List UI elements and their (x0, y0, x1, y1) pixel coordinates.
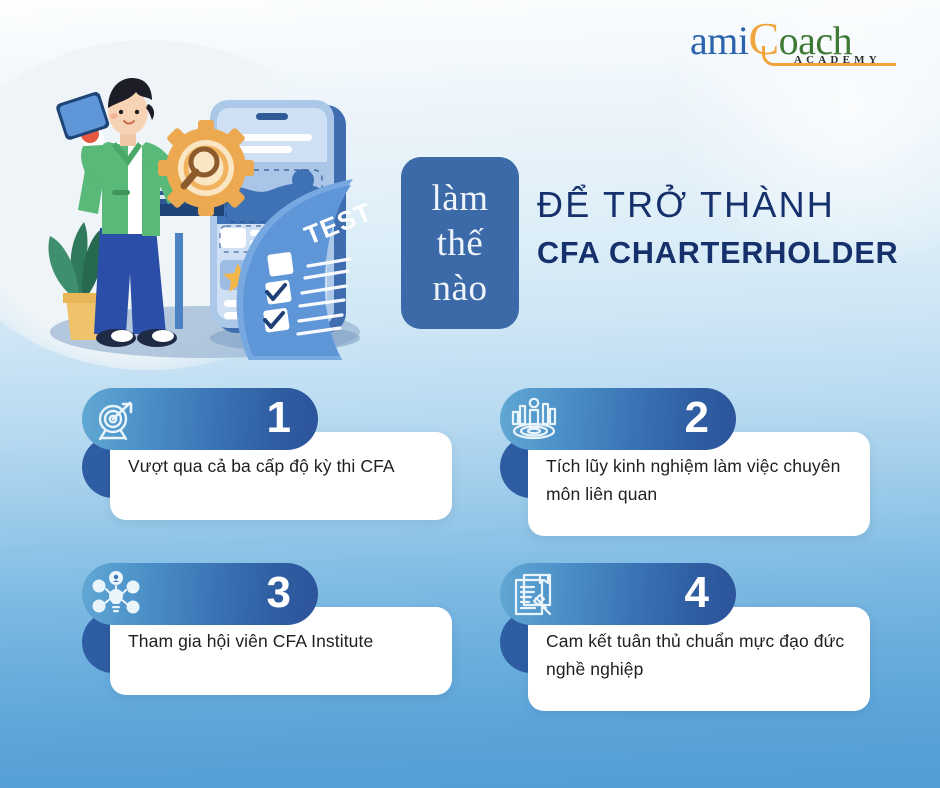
infographic-poster: amiCoach ACADEMY (0, 0, 940, 788)
badge-line-2: thế (437, 221, 484, 266)
card-header: 2 (500, 388, 736, 450)
hero-illustration: TEST (20, 50, 390, 360)
card-number: 3 (267, 571, 290, 618)
brand-logo[interactable]: amiCoach ACADEMY (690, 16, 910, 74)
step-card-2[interactable]: 2 Tích lũy kinh nghiệm làm việc chuyên m… (500, 388, 870, 536)
badge-line-3: nào (433, 266, 488, 311)
headline-line-1: ĐỂ TRỞ THÀNH (537, 182, 937, 228)
businessperson-chart-icon (510, 395, 558, 443)
logo-text-ami: ami (690, 18, 748, 63)
badge-line-1: làm (432, 176, 489, 221)
gear-magnifier-icon (158, 120, 254, 216)
card-text: Cam kết tuân thủ chuẩn mực đạo đức nghề … (546, 627, 852, 683)
target-arrow-icon (92, 395, 140, 443)
idea-network-icon (92, 570, 140, 618)
document-gavel-icon (510, 570, 558, 618)
headline-line-2: CFA CHARTERHOLDER (537, 232, 937, 274)
step-card-1[interactable]: 1 Vượt qua cả ba cấp độ kỳ thi CFA (82, 388, 452, 520)
card-number: 1 (267, 396, 290, 443)
step-card-4[interactable]: 4 Cam kết tuân thủ chuẩn mực đạo đức ngh… (500, 563, 870, 711)
card-header: 1 (82, 388, 318, 450)
logo-text-c: C (748, 13, 778, 64)
card-text: Vượt qua cả ba cấp độ kỳ thi CFA (128, 452, 434, 480)
card-number: 4 (685, 571, 708, 618)
card-number: 2 (685, 396, 708, 443)
card-header: 4 (500, 563, 736, 625)
page-title: ĐỂ TRỞ THÀNH CFA CHARTERHOLDER (537, 182, 937, 274)
card-text: Tích lũy kinh nghiệm làm việc chuyên môn… (546, 452, 852, 508)
how-to-badge: làm thế nào (401, 157, 519, 329)
logo-text-academy: ACADEMY (794, 54, 881, 66)
hero-illustration-svg: TEST (20, 50, 390, 360)
card-header: 3 (82, 563, 318, 625)
step-card-3[interactable]: 3 Tham gia hội viên CFA Institute (82, 563, 452, 695)
card-text: Tham gia hội viên CFA Institute (128, 627, 434, 655)
